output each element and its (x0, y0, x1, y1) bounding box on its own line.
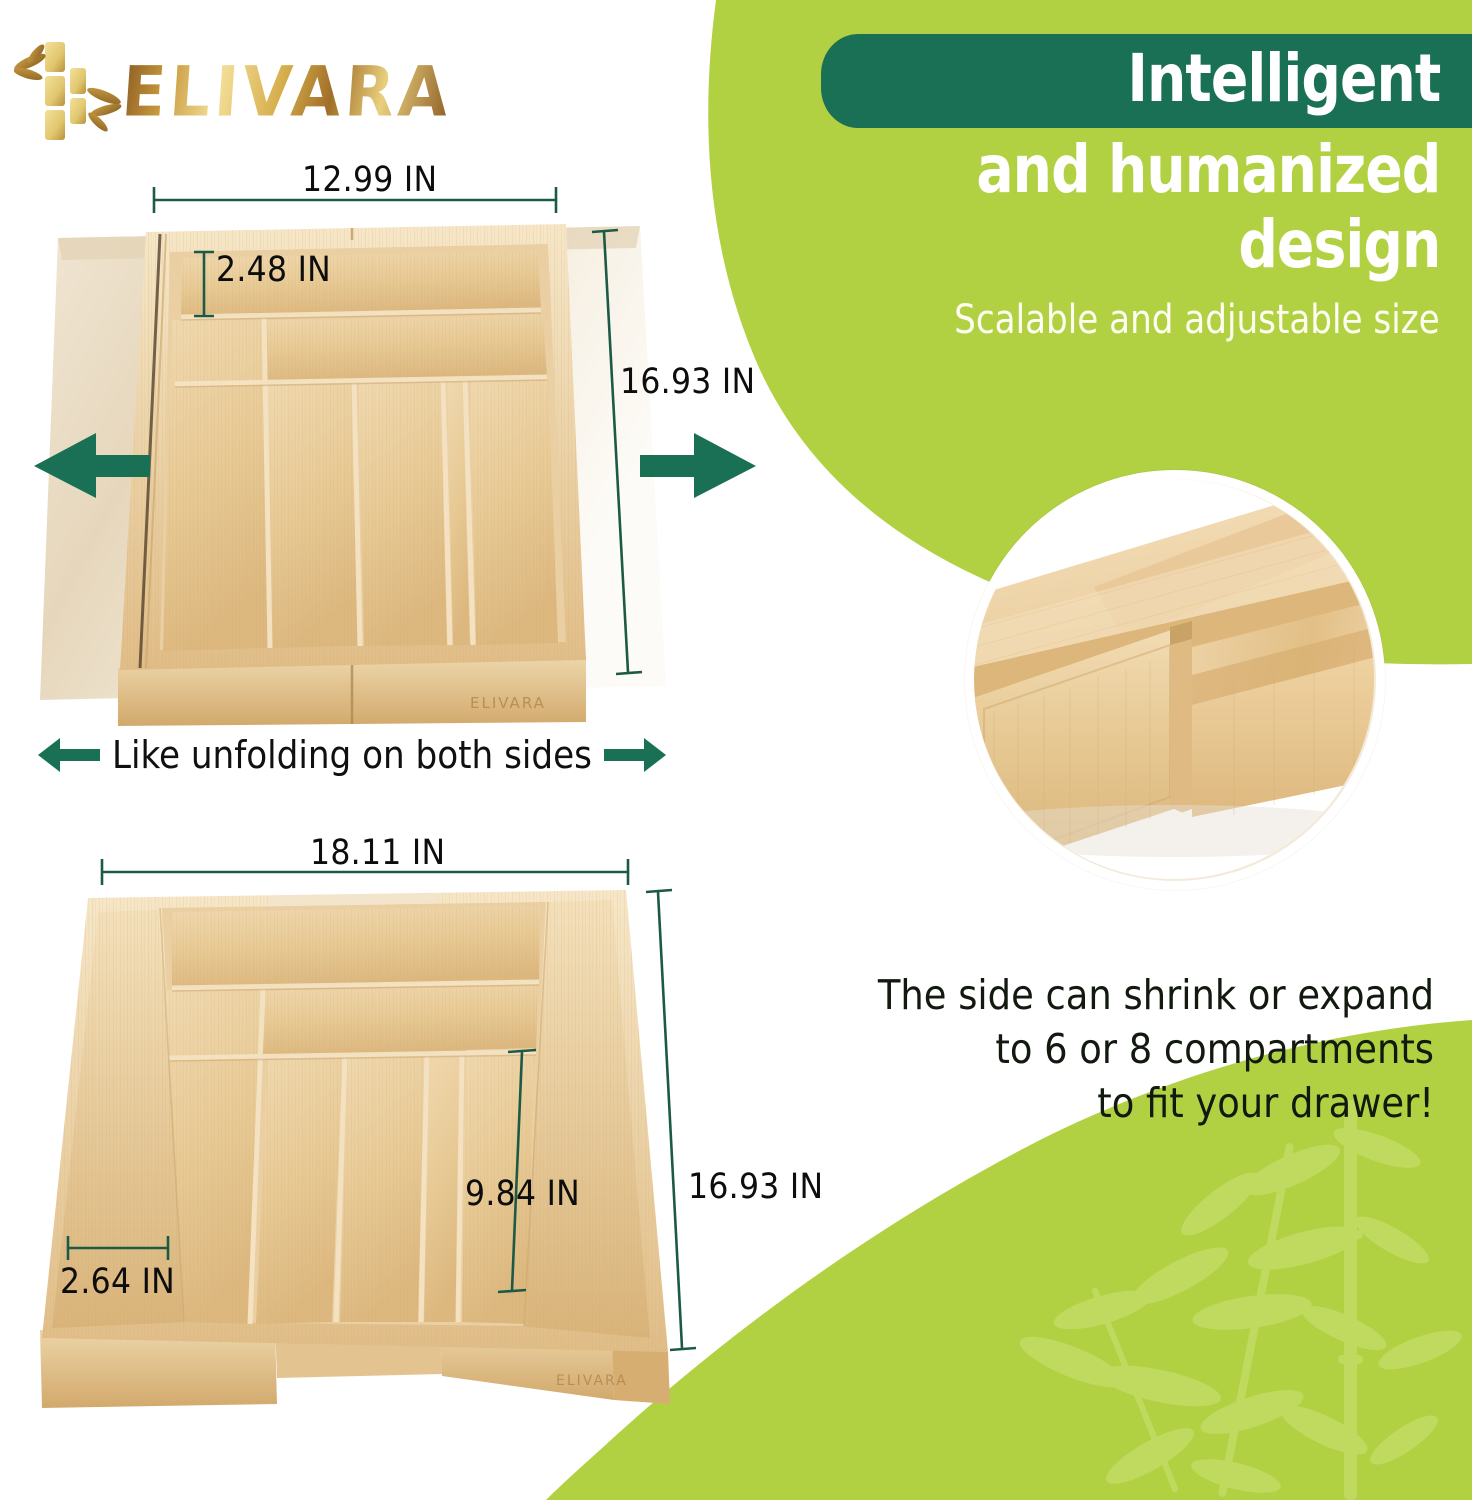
headline-line-3: design (821, 207, 1472, 282)
right-caption-line-3: to fit your drawer! (824, 1076, 1434, 1130)
dim-collapsed-slot-height: 2.48 IN (216, 250, 331, 290)
headline-subhead: Scalable and adjustable size (807, 282, 1472, 344)
brand-logo: ELIVARA (14, 26, 444, 156)
rail-mechanism-photo (974, 479, 1374, 879)
right-caption-line-2: to 6 or 8 compartments (824, 1022, 1434, 1076)
dim-expanded-depth: 16.93 IN (688, 1167, 823, 1207)
dim-expanded-slot-length: 9.84 IN (465, 1174, 580, 1214)
dim-expanded-rail-width: 2.64 IN (60, 1262, 175, 1302)
headline-pill: Intelligent (821, 34, 1472, 128)
arrow-right-icon (604, 738, 666, 772)
dim-collapsed-depth: 16.93 IN (620, 362, 755, 402)
bamboo-watermark-icon (952, 1100, 1472, 1500)
brand-name: ELIVARA (119, 53, 454, 133)
headline-line-2: and humanized (821, 132, 1472, 207)
inset-photo (974, 479, 1376, 881)
bamboo-stalk-icon (14, 34, 132, 152)
arrow-left-icon (38, 738, 100, 772)
dim-collapsed-width: 12.99 IN (302, 160, 437, 200)
right-caption-line-1: The side can shrink or expand (824, 968, 1434, 1022)
dim-expanded-width: 18.11 IN (310, 833, 445, 873)
infographic-canvas: ELIVARA Intelligent and humanized design… (0, 0, 1472, 1500)
headline-block: Intelligent and humanized design Scalabl… (772, 34, 1472, 344)
unfold-caption: Like unfolding on both sides (38, 733, 678, 777)
unfold-caption-text: Like unfolding on both sides (112, 733, 592, 777)
right-caption: The side can shrink or expand to 6 or 8 … (824, 968, 1434, 1130)
inset-circle (965, 470, 1385, 890)
